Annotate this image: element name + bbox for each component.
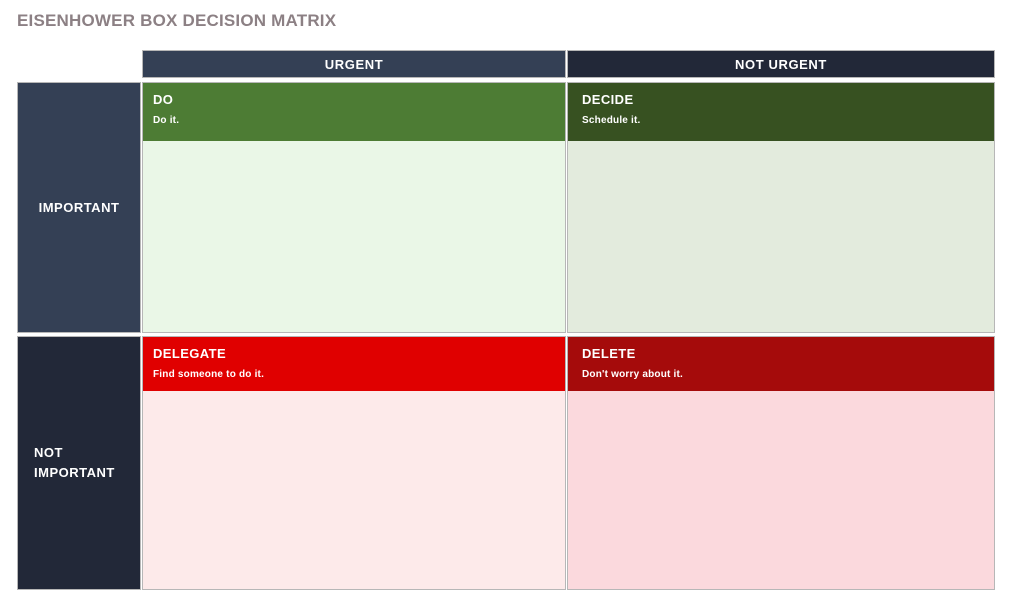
row-header-not-important-label: NOT IMPORTANT	[34, 443, 115, 483]
quadrant-delegate[interactable]: DELEGATE Find someone to do it.	[142, 336, 566, 590]
row-header-important: IMPORTANT	[17, 82, 141, 333]
quadrant-delete-title: DELETE	[582, 346, 994, 362]
quadrant-decide-content-area[interactable]	[568, 141, 994, 332]
row-header-important-label: IMPORTANT	[39, 200, 120, 215]
quadrant-decide[interactable]: DECIDE Schedule it.	[567, 82, 995, 333]
quadrant-delete[interactable]: DELETE Don't worry about it.	[567, 336, 995, 590]
quadrant-delegate-band: DELEGATE Find someone to do it.	[143, 337, 565, 391]
quadrant-decide-subtitle: Schedule it.	[582, 115, 994, 127]
quadrant-do[interactable]: DO Do it.	[142, 82, 566, 333]
quadrant-decide-title: DECIDE	[582, 92, 994, 108]
matrix-row-not-important: NOT IMPORTANT DELEGATE Find someone to d…	[17, 336, 995, 590]
column-header-urgent: URGENT	[142, 50, 566, 78]
quadrant-delete-content-area[interactable]	[568, 391, 994, 589]
quadrant-delete-band: DELETE Don't worry about it.	[568, 337, 994, 391]
column-header-urgent-label: URGENT	[325, 57, 384, 72]
quadrant-do-band: DO Do it.	[143, 83, 565, 141]
matrix-row-important: IMPORTANT DO Do it. DECIDE Schedule it.	[17, 82, 995, 333]
quadrant-delegate-subtitle: Find someone to do it.	[153, 369, 565, 381]
quadrant-do-title: DO	[153, 92, 565, 108]
page-title: EISENHOWER BOX DECISION MATRIX	[17, 11, 336, 31]
row-header-not-important: NOT IMPORTANT	[17, 336, 141, 590]
matrix-corner-cell	[17, 50, 141, 78]
quadrant-delete-subtitle: Don't worry about it.	[582, 369, 994, 381]
quadrant-do-content-area[interactable]	[143, 141, 565, 332]
quadrant-delegate-content-area[interactable]	[143, 391, 565, 589]
quadrant-decide-band: DECIDE Schedule it.	[568, 83, 994, 141]
quadrant-do-subtitle: Do it.	[153, 115, 565, 127]
eisenhower-matrix: URGENT NOT URGENT IMPORTANT DO Do it. DE…	[17, 50, 995, 590]
matrix-header-row: URGENT NOT URGENT	[17, 50, 995, 78]
quadrant-delegate-title: DELEGATE	[153, 346, 565, 362]
column-header-not-urgent-label: NOT URGENT	[735, 57, 827, 72]
column-header-not-urgent: NOT URGENT	[567, 50, 995, 78]
